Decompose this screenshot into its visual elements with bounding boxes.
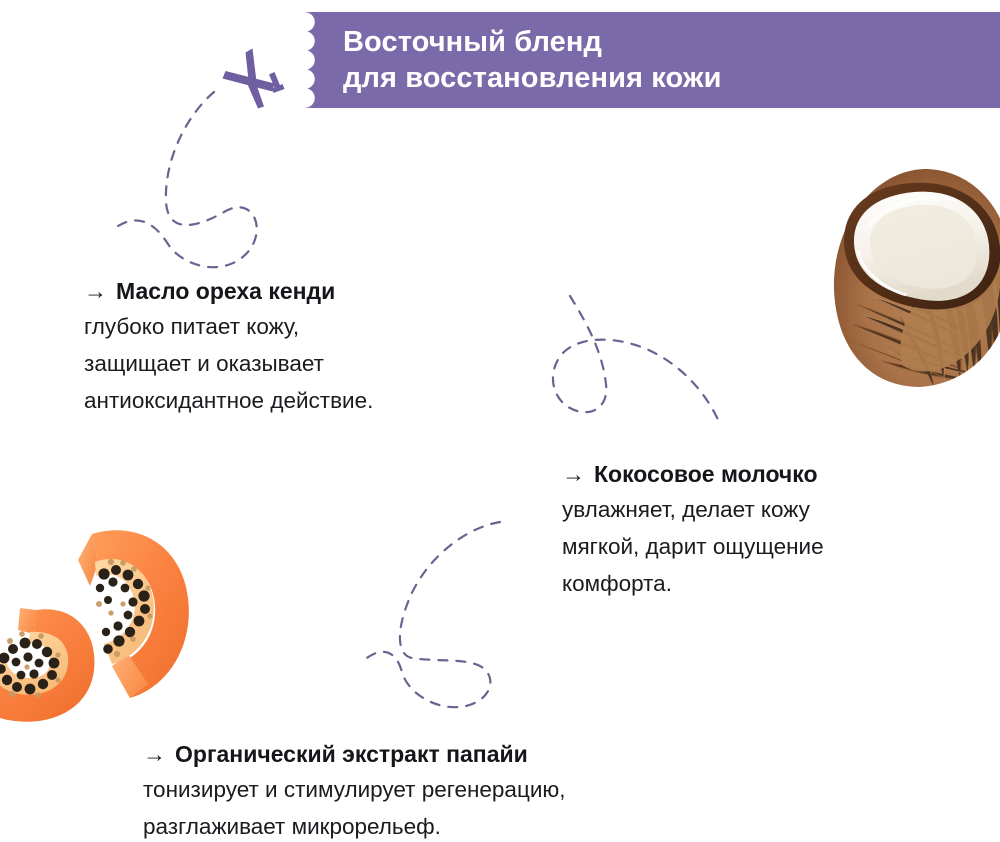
feature-papaya-body: тонизирует и стимулирует регенерацию, ра… [143, 771, 566, 842]
promo-poster: Восточный бленд для восстановления кожи [0, 0, 1000, 842]
feature-papaya-title-text: Органический экстракт папайи [175, 741, 528, 767]
feature-candlenut: →Масло ореха кенди глубоко питает кожу, … [84, 274, 373, 419]
feature-papaya-body-line-1: тонизирует и стимулирует регенерацию, [143, 771, 566, 808]
airplane-icon [212, 45, 290, 117]
feature-coconut-title-text: Кокосовое молочко [594, 461, 818, 487]
dashed-loop-trail-center [528, 288, 738, 424]
feature-candlenut-title: →Масло ореха кенди [84, 274, 373, 308]
arrow-icon: → [84, 278, 107, 304]
feature-candlenut-body-line-1: глубоко питает кожу, [84, 308, 373, 345]
feature-candlenut-body-line-2: защищает и оказывает [84, 345, 373, 382]
feature-coconut-body-line-2: мягкой, дарит ощущение [562, 528, 824, 565]
feature-candlenut-body: глубоко питает кожу, защищает и оказывае… [84, 308, 373, 419]
feature-coconut-body-line-1: увлажняет, делает кожу [562, 491, 824, 528]
feature-papaya-body-line-2: разглаживает микрорельеф. [143, 808, 566, 842]
feature-papaya: →Органический экстракт папайи тонизирует… [143, 737, 566, 842]
feature-coconut: →Кокосовое молочко увлажняет, делает кож… [562, 457, 824, 602]
arrow-icon: → [143, 741, 166, 767]
arrow-icon: → [562, 461, 585, 487]
coconut-half-photo [828, 165, 1000, 387]
feature-coconut-title: →Кокосовое молочко [562, 457, 824, 491]
banner-title-line-1: Восточный бленд [343, 24, 1000, 60]
feature-candlenut-title-text: Масло ореха кенди [116, 278, 335, 304]
feature-papaya-title: →Органический экстракт папайи [143, 737, 566, 771]
papaya-slices-photo [0, 512, 214, 724]
feature-coconut-body: увлажняет, делает кожу мягкой, дарит ощу… [562, 491, 824, 602]
dashed-loop-trail-bottom-center [352, 508, 562, 716]
banner: Восточный бленд для восстановления кожи [305, 12, 1000, 108]
feature-coconut-body-line-3: комфорта. [562, 565, 824, 602]
banner-title-line-2: для восстановления кожи [343, 60, 1000, 96]
feature-candlenut-body-line-3: антиоксидантное действие. [84, 382, 373, 419]
banner-scalloped-edge [305, 12, 319, 108]
